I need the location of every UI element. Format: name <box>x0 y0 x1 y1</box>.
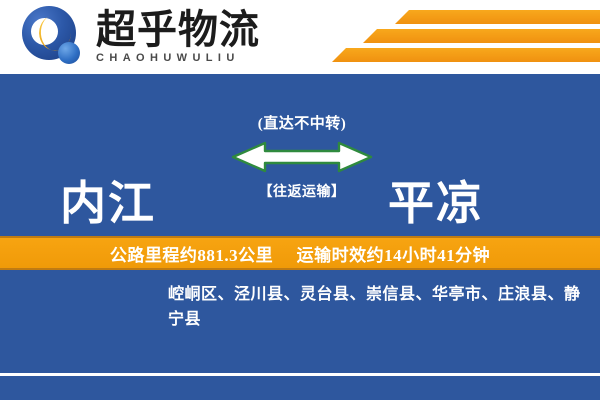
roundtrip-tag: 【往返运输】 <box>222 181 382 201</box>
bidirectional-arrow-icon <box>222 139 382 175</box>
stripe-3 <box>332 48 600 62</box>
brand-name-cn: 超乎物流 <box>96 10 260 50</box>
logistics-route-banner: 超乎物流 CHAOHUWULIU 内江 (直达不中转) 【往返运输】 平凉 <box>0 0 600 400</box>
route-info-bar: 公路里程约881.3公里 运输时效约14小时41分钟 <box>0 236 600 270</box>
header-stripes-decoration <box>330 0 600 74</box>
brand-text-block: 超乎物流 CHAOHUWULIU <box>96 10 260 64</box>
coverage-section: 崆峒区、泾川县、灵台县、崇信县、华亭市、庄浪县、静宁县 <box>0 270 600 373</box>
destination-city: 平凉 <box>388 167 484 233</box>
route-middle-block: (直达不中转) 【往返运输】 <box>222 112 382 201</box>
footer-strip <box>0 376 600 400</box>
direct-service-tag: (直达不中转) <box>222 112 382 133</box>
stripe-2 <box>363 29 600 43</box>
duration-text: 运输时效约14小时41分钟 <box>297 246 491 265</box>
banner-header: 超乎物流 CHAOHUWULIU <box>0 0 600 74</box>
logo-dot-shape <box>58 42 80 64</box>
brand-logo: 超乎物流 CHAOHUWULIU <box>22 6 260 68</box>
route-section: 内江 (直达不中转) 【往返运输】 平凉 <box>0 74 600 236</box>
route-info-text: 公路里程约881.3公里 运输时效约14小时41分钟 <box>110 241 490 266</box>
distance-text: 公路里程约881.3公里 <box>110 246 273 265</box>
origin-city: 内江 <box>60 167 156 233</box>
coverage-districts-text: 崆峒区、泾川县、灵台县、崇信县、华亭市、庄浪县、静宁县 <box>168 282 582 332</box>
logo-inner-hole-shape <box>31 18 58 45</box>
stripe-1 <box>395 10 600 24</box>
circle-crescent-logo-icon <box>22 6 84 68</box>
brand-name-pinyin: CHAOHUWULIU <box>96 53 260 64</box>
